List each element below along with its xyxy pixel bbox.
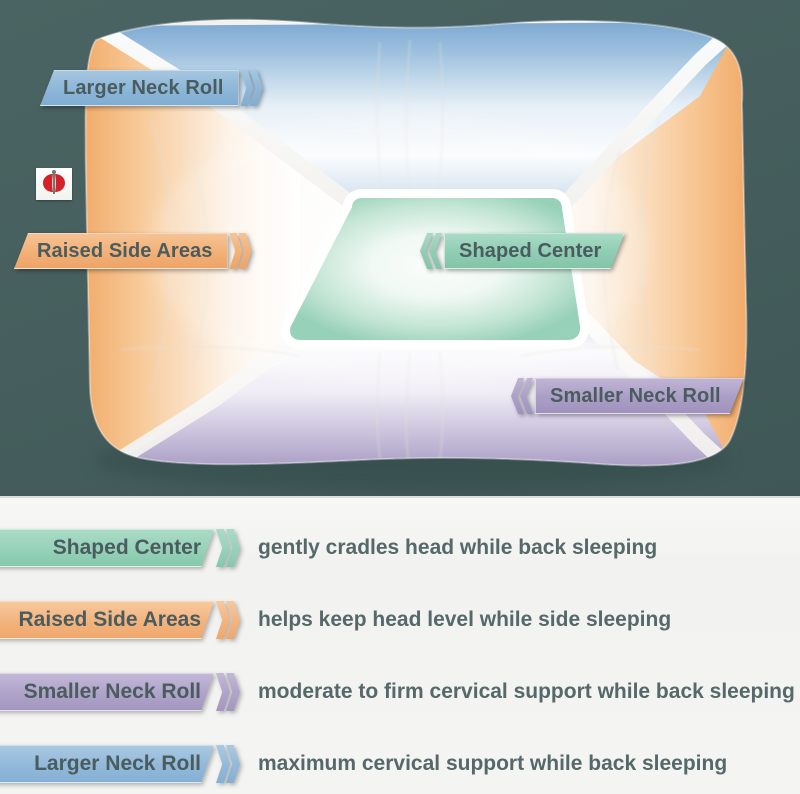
callout-raised-side-areas[interactable]: Raised Side Areas (14, 233, 252, 269)
legend-panel: Shaped Center gently cradles head while … (0, 496, 800, 794)
legend-badge-label: Shaped Center (0, 529, 214, 567)
callout-label: Smaller Neck Roll (535, 378, 744, 414)
legend-description: helps keep head level while side sleepin… (258, 608, 671, 632)
callout-larger-neck-roll[interactable]: Larger Neck Roll (40, 70, 263, 106)
legend-badge-raised-side-areas[interactable]: Raised Side Areas (0, 601, 240, 639)
chevron-left-icon (520, 378, 533, 414)
care-label-tag (36, 168, 72, 200)
legend-badge-larger-neck-roll[interactable]: Larger Neck Roll (0, 745, 240, 783)
legend-badge-label: Raised Side Areas (0, 601, 214, 639)
callout-label: Larger Neck Roll (40, 70, 239, 106)
pillow-illustration: Larger Neck Roll Raised Side Areas Shape… (0, 0, 800, 496)
callout-smaller-neck-roll[interactable]: Smaller Neck Roll (511, 378, 744, 414)
infographic-page: Larger Neck Roll Raised Side Areas Shape… (0, 0, 800, 794)
callout-label: Raised Side Areas (14, 233, 228, 269)
legend-description: gently cradles head while back sleeping (258, 536, 657, 560)
callout-label: Shaped Center (444, 233, 624, 269)
legend-description: moderate to firm cervical support while … (258, 680, 795, 704)
legend-badge-smaller-neck-roll[interactable]: Smaller Neck Roll (0, 673, 240, 711)
legend-row-shaped-center[interactable]: Shaped Center gently cradles head while … (0, 527, 657, 569)
chevron-left-icon (429, 233, 442, 269)
legend-badge-shaped-center[interactable]: Shaped Center (0, 529, 240, 567)
legend-badge-label: Smaller Neck Roll (0, 673, 214, 711)
legend-row-larger-neck-roll[interactable]: Larger Neck Roll maximum cervical suppor… (0, 743, 727, 785)
legend-badge-label: Larger Neck Roll (0, 745, 214, 783)
legend-row-smaller-neck-roll[interactable]: Smaller Neck Roll moderate to firm cervi… (0, 671, 795, 713)
legend-list: Shaped Center gently cradles head while … (0, 498, 800, 794)
product-image-panel: Larger Neck Roll Raised Side Areas Shape… (0, 0, 800, 496)
callout-shaped-center[interactable]: Shaped Center (420, 233, 624, 269)
legend-row-raised-side-areas[interactable]: Raised Side Areas helps keep head level … (0, 599, 671, 641)
care-label-logo-icon (36, 168, 72, 200)
legend-description: maximum cervical support while back slee… (258, 752, 727, 776)
